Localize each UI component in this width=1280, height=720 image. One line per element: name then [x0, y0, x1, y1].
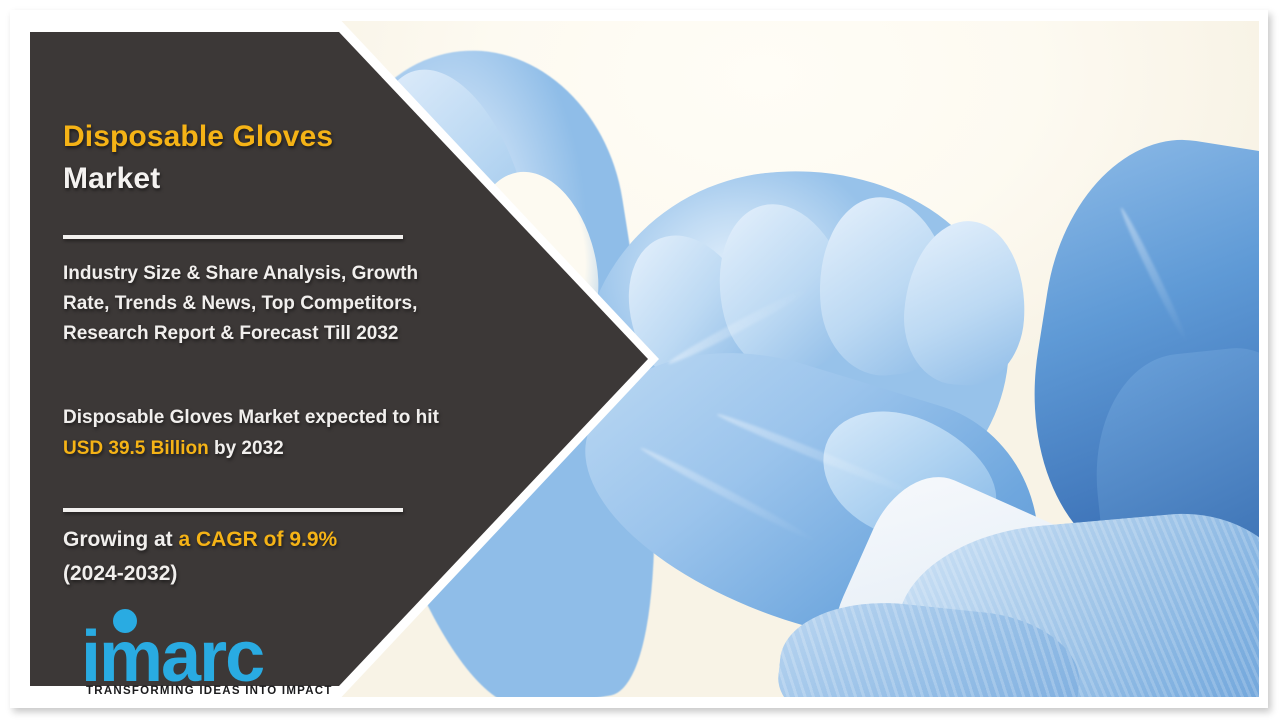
subtitle-line-1: Industry Size & Share Analysis, Growth	[63, 259, 503, 289]
divider-top	[63, 235, 403, 239]
title-plain: Market	[63, 158, 333, 200]
market-value-line-2: USD 39.5 Billion by 2032	[63, 433, 533, 464]
imarc-logo: imarc TRANSFORMING IDEAS INTO IMPACT	[81, 607, 351, 703]
cagr-highlight: a CAGR of 9.9%	[179, 528, 338, 551]
divider-bottom	[63, 508, 403, 512]
logo-wordmark: imarc	[81, 621, 263, 693]
cagr-prefix: Growing at	[63, 528, 179, 551]
cagr-period: (2024-2032)	[63, 557, 533, 591]
page-title: Disposable Gloves Market	[63, 116, 333, 200]
market-value-line-1: Disposable Gloves Market expected to hit	[63, 402, 533, 433]
cagr-line-1: Growing at a CAGR of 9.9%	[63, 523, 533, 557]
subtitle-line-2: Rate, Trends & News, Top Competitors,	[63, 289, 503, 319]
arrow-panel-wrapper: Disposable Gloves Market Industry Size &…	[19, 21, 1259, 697]
panel-content: Disposable Gloves Market Industry Size &…	[63, 21, 533, 697]
infographic-canvas: Disposable Gloves Market Industry Size &…	[0, 0, 1280, 720]
report-subtitle: Industry Size & Share Analysis, Growth R…	[63, 259, 503, 349]
title-highlight: Disposable Gloves	[63, 116, 333, 158]
market-value-suffix: by 2032	[209, 438, 284, 459]
market-value-statement: Disposable Gloves Market expected to hit…	[63, 402, 533, 464]
subtitle-line-3: Research Report & Forecast Till 2032	[63, 319, 503, 349]
logo-tagline: TRANSFORMING IDEAS INTO IMPACT	[86, 685, 333, 697]
market-value-amount: USD 39.5 Billion	[63, 438, 209, 459]
cagr-statement: Growing at a CAGR of 9.9% (2024-2032)	[63, 523, 533, 591]
report-card: Disposable Gloves Market Industry Size &…	[10, 10, 1268, 708]
